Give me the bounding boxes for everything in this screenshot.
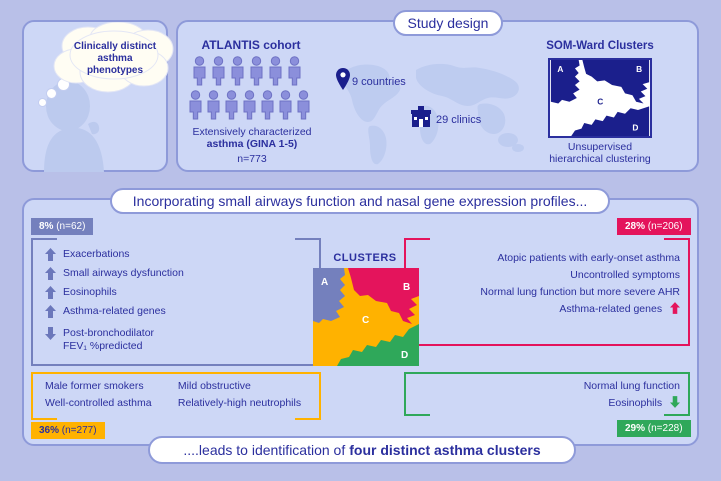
list-item-label: Normal lung function but more severe AHR — [480, 286, 680, 298]
arrow-down-icon — [670, 396, 680, 408]
list-item-label: Male former smokers — [45, 380, 144, 392]
study-design-title-pill: Study design — [393, 10, 503, 36]
people-icon-group — [188, 56, 316, 126]
list-item: Normal lung function but more severe AHR — [415, 284, 680, 301]
svg-text:A: A — [557, 64, 563, 74]
thought-line-2: asthma — [97, 53, 132, 65]
cluster-b-feature-list: Atopic patients with early-onset asthma … — [415, 250, 680, 318]
svg-text:B: B — [636, 64, 642, 74]
som-ward-cluster-map: A B C D — [548, 58, 652, 138]
cluster-c-bracket-bottom-right — [295, 418, 321, 420]
cluster-c-feature-list: Male former smokers Well-controlled asth… — [45, 378, 315, 412]
list-item-label: Small airways dysfunction — [63, 267, 184, 280]
cluster-b-n: (n=206) — [645, 221, 683, 232]
list-item: Post-bronchodilator FEV₁ %predicted — [45, 327, 310, 353]
cluster-b-bracket-top-left — [404, 238, 430, 240]
svg-text:D: D — [401, 350, 408, 361]
cluster-d-feature-list: Normal lung function Eosinophils — [415, 378, 680, 412]
cluster-a-bracket-top-left — [31, 238, 57, 240]
atlantis-cohort-title: ATLANTIS cohort — [176, 38, 326, 52]
list-item: Small airways dysfunction — [45, 267, 310, 280]
list-item: Eosinophils — [45, 286, 310, 299]
cluster-b-bracket-top-right — [664, 238, 690, 240]
svg-text:B: B — [403, 282, 410, 293]
list-item-label: Uncontrolled symptoms — [570, 269, 680, 281]
list-item: Well-controlled asthma — [45, 395, 175, 412]
som-caption: Unsupervised hierarchical clustering — [520, 141, 680, 165]
conclusion-banner-pill: ....leads to identification of four dist… — [148, 436, 576, 464]
figure-root: Clinically distinct asthma phenotypes St… — [0, 0, 721, 481]
som-caption-line2: hierarchical clustering — [520, 153, 680, 165]
person-icon — [260, 90, 275, 120]
cohort-caption-line2: asthma (GINA 1-5) — [166, 138, 338, 150]
arrow-up-icon — [45, 248, 56, 261]
svg-text:C: C — [362, 315, 369, 326]
list-item: Asthma-related genes — [45, 305, 310, 318]
list-item-label: Post-bronchodilator — [63, 327, 154, 340]
clinics-stat: 29 clinics — [410, 106, 481, 133]
som-caption-line1: Unsupervised — [520, 141, 680, 153]
cluster-b-pct: 28% — [625, 221, 645, 232]
list-item-label-cont: FEV₁ %predicted — [63, 340, 154, 353]
cluster-d-badge: 29% (n=228) — [617, 420, 691, 437]
clusters-heading: CLUSTERS — [320, 252, 410, 264]
list-item-label: Normal lung function — [584, 380, 680, 392]
study-design-label: Study design — [408, 15, 489, 31]
list-item-label: Atopic patients with early-onset asthma — [497, 252, 680, 264]
cluster-c-pct: 36% — [39, 425, 59, 436]
person-icon — [230, 56, 245, 86]
thought-line-1: Clinically distinct — [74, 41, 156, 53]
svg-text:D: D — [632, 122, 638, 132]
list-item-label: Relatively-high neutrophils — [178, 397, 301, 409]
cluster-a-n: (n=62) — [53, 221, 85, 232]
cluster-c-n: (n=277) — [59, 425, 97, 436]
person-icon — [206, 90, 221, 120]
arrow-up-icon — [670, 302, 680, 314]
thought-cloud: Clinically distinct asthma phenotypes — [48, 22, 182, 96]
countries-stat: 9 countries — [336, 68, 406, 95]
cohort-sample-size: n=773 — [166, 153, 338, 165]
cluster-d-bracket-bottom-right — [664, 414, 690, 416]
person-icon — [287, 56, 302, 86]
cluster-d-pct: 29% — [625, 423, 645, 434]
list-item: Atopic patients with early-onset asthma — [415, 250, 680, 267]
conclusion-bold: four distinct asthma clusters — [349, 442, 540, 458]
middle-banner-pill: Incorporating small airways function and… — [110, 188, 610, 214]
person-icon — [268, 56, 283, 86]
list-item: Exacerbations — [45, 248, 310, 261]
person-icon — [192, 56, 207, 86]
svg-text:A: A — [321, 277, 328, 288]
list-item: Uncontrolled symptoms — [415, 267, 680, 284]
list-item: Asthma-related genes — [415, 301, 680, 318]
list-item-label: Asthma-related genes — [559, 303, 662, 315]
som-ward-title: SOM-Ward Clusters — [520, 40, 680, 52]
clinics-label: 29 clinics — [436, 114, 481, 126]
cluster-c-column-2: Mild obstructive Relatively-high neutrop… — [178, 378, 313, 412]
clinic-building-icon — [410, 106, 432, 133]
arrow-down-icon — [45, 327, 56, 340]
list-item-label: Asthma-related genes — [63, 305, 166, 318]
person-icon — [188, 90, 203, 120]
cluster-a-feature-list: Exacerbations Small airways dysfunction … — [45, 248, 310, 353]
cluster-c-badge: 36% (n=277) — [31, 422, 105, 439]
list-item: Normal lung function — [415, 378, 680, 395]
cluster-b-badge: 28% (n=206) — [617, 218, 691, 235]
thought-line-3: phenotypes — [87, 65, 143, 77]
cluster-d-n: (n=228) — [645, 423, 683, 434]
arrow-up-icon — [45, 286, 56, 299]
thought-dot-small — [38, 98, 47, 107]
cluster-a-bracket-top-right — [295, 238, 321, 240]
conclusion-lead: ....leads to identification of — [183, 442, 345, 458]
person-icon — [249, 56, 264, 86]
list-item: Relatively-high neutrophils — [178, 395, 313, 412]
arrow-up-icon — [45, 267, 56, 280]
person-icon — [296, 90, 311, 120]
svg-text:C: C — [597, 96, 603, 106]
list-item: Male former smokers — [45, 378, 175, 395]
list-item: Mild obstructive — [178, 378, 313, 395]
cluster-c-column-1: Male former smokers Well-controlled asth… — [45, 378, 175, 412]
middle-banner-label: Incorporating small airways function and… — [133, 193, 587, 209]
list-item-label: Well-controlled asthma — [45, 397, 152, 409]
countries-label: 9 countries — [352, 76, 406, 88]
cluster-c-bracket-bottom-left — [31, 418, 57, 420]
cluster-map-graphic: A B C D — [313, 268, 419, 366]
list-item-label: Mild obstructive — [178, 380, 251, 392]
cluster-d-bracket-bottom-left — [404, 414, 430, 416]
arrow-up-icon — [45, 305, 56, 318]
cluster-a-pct: 8% — [39, 221, 53, 232]
person-icon — [242, 90, 257, 120]
person-icon — [224, 90, 239, 120]
person-icon — [278, 90, 293, 120]
list-item-label: Eosinophils — [608, 397, 662, 409]
list-item: Eosinophils — [415, 395, 680, 412]
map-pin-icon — [336, 68, 350, 95]
list-item-multiline: Post-bronchodilator FEV₁ %predicted — [63, 327, 154, 353]
cluster-a-badge: 8% (n=62) — [31, 218, 93, 235]
list-item-label: Eosinophils — [63, 286, 117, 299]
person-icon — [211, 56, 226, 86]
list-item-label: Exacerbations — [63, 248, 130, 261]
